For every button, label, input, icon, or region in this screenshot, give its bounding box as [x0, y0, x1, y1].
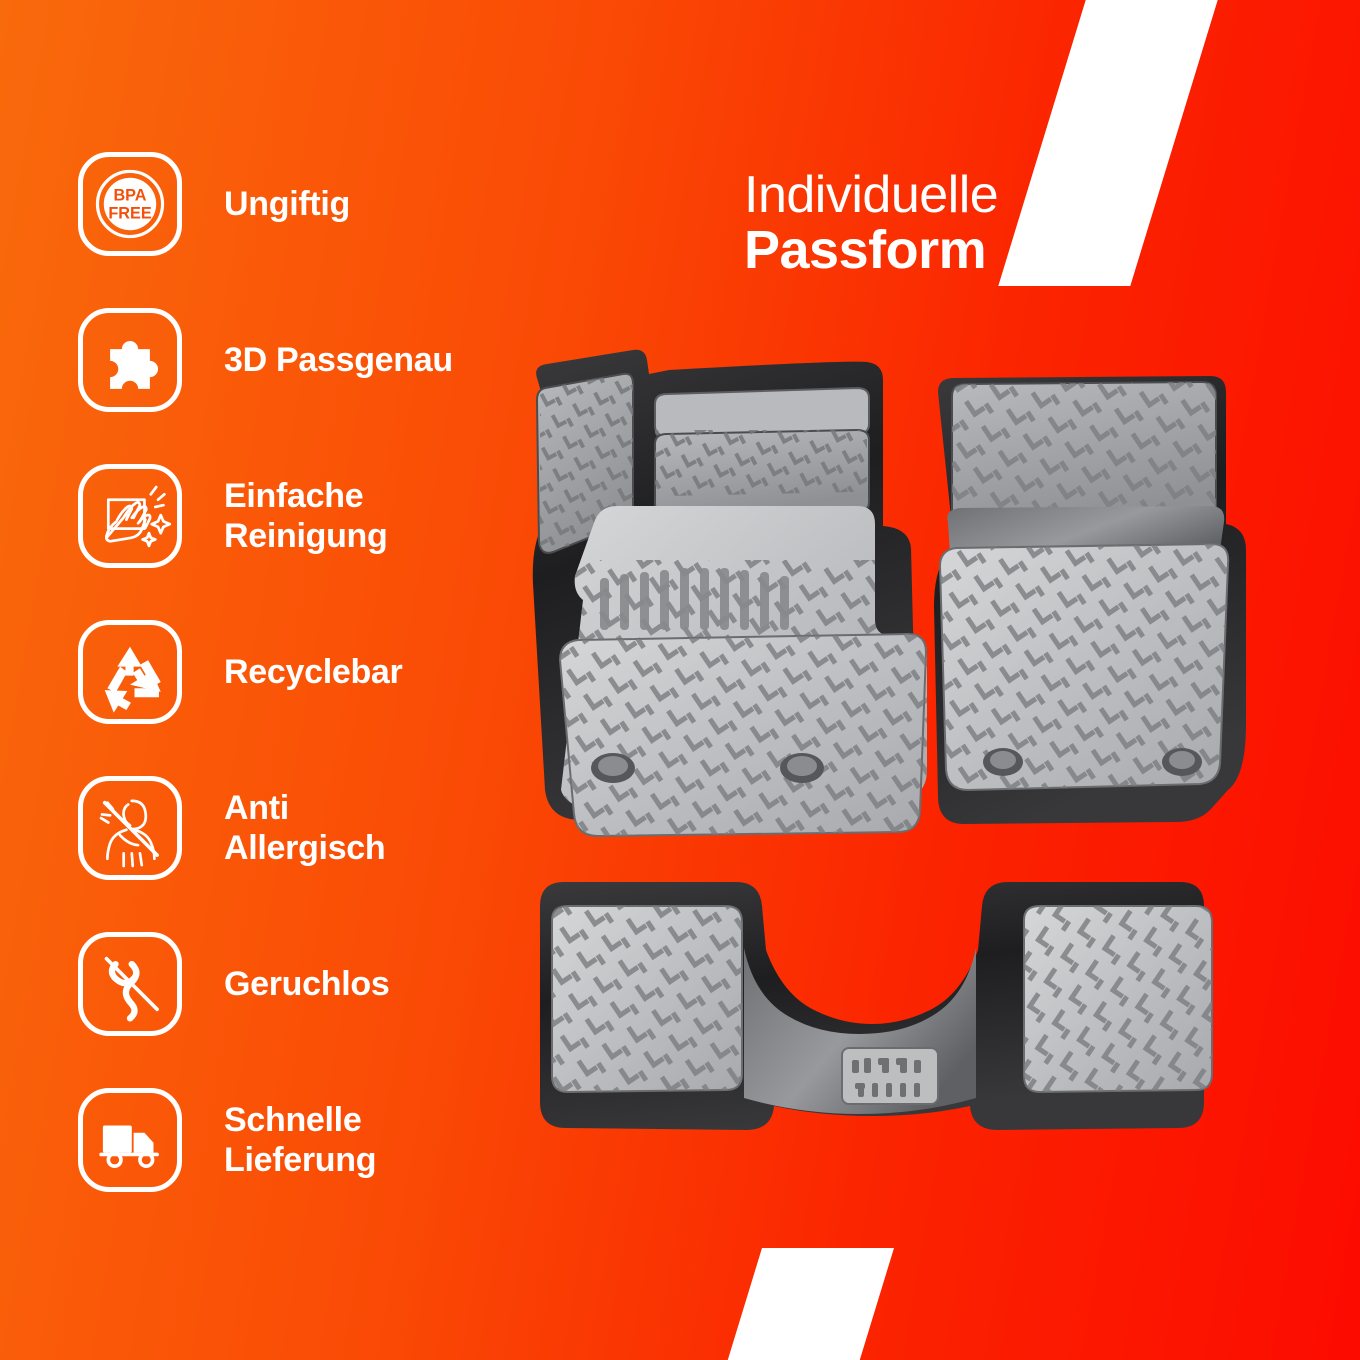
delivery-truck-icon	[78, 1088, 182, 1192]
rear-bench-floor-mat	[540, 882, 1222, 1130]
headline-line-2: Passform	[744, 222, 1204, 278]
feature-label: Geruchlos	[224, 932, 494, 1036]
feature-label: Anti Allergisch	[224, 776, 494, 880]
driver-floor-mat	[533, 350, 950, 870]
headline: Individuelle Passform	[744, 168, 1204, 278]
feature-item-einfache-reinigung: Einfache Reinigung	[78, 464, 498, 620]
feature-label: 3D Passgenau	[224, 308, 494, 412]
passenger-floor-mat	[930, 376, 1246, 824]
no-allergy-icon	[78, 776, 182, 880]
feature-item-3d-passgenau: 3D Passgenau	[78, 308, 498, 464]
product-feature-banner: Individuelle Passform BPA FREE Ungiftig	[0, 0, 1360, 1360]
feature-label: Recyclebar	[224, 620, 494, 724]
bpa-free-icon: BPA FREE	[78, 152, 182, 256]
headline-line-1: Individuelle	[744, 168, 1204, 222]
feature-item-geruchlos: Geruchlos	[78, 932, 498, 1088]
feature-list: BPA FREE Ungiftig 3D Passgenau	[78, 152, 498, 1244]
feature-item-ungiftig: BPA FREE Ungiftig	[78, 152, 498, 308]
feature-label: Einfache Reinigung	[224, 464, 494, 568]
feature-label: Schnelle Lieferung	[224, 1088, 494, 1192]
feature-label: Ungiftig	[224, 152, 494, 256]
wiping-hand-icon	[78, 464, 182, 568]
feature-item-anti-allergisch: Anti Allergisch	[78, 776, 498, 932]
puzzle-piece-icon	[78, 308, 182, 412]
recycling-icon	[78, 620, 182, 724]
bpa-badge-line-1: BPA	[113, 186, 146, 204]
bpa-badge-line-2: FREE	[108, 204, 152, 222]
feature-item-schnelle-lieferung: Schnelle Lieferung	[78, 1088, 498, 1244]
feature-item-recyclebar: Recyclebar	[78, 620, 498, 776]
no-odor-icon	[78, 932, 182, 1036]
